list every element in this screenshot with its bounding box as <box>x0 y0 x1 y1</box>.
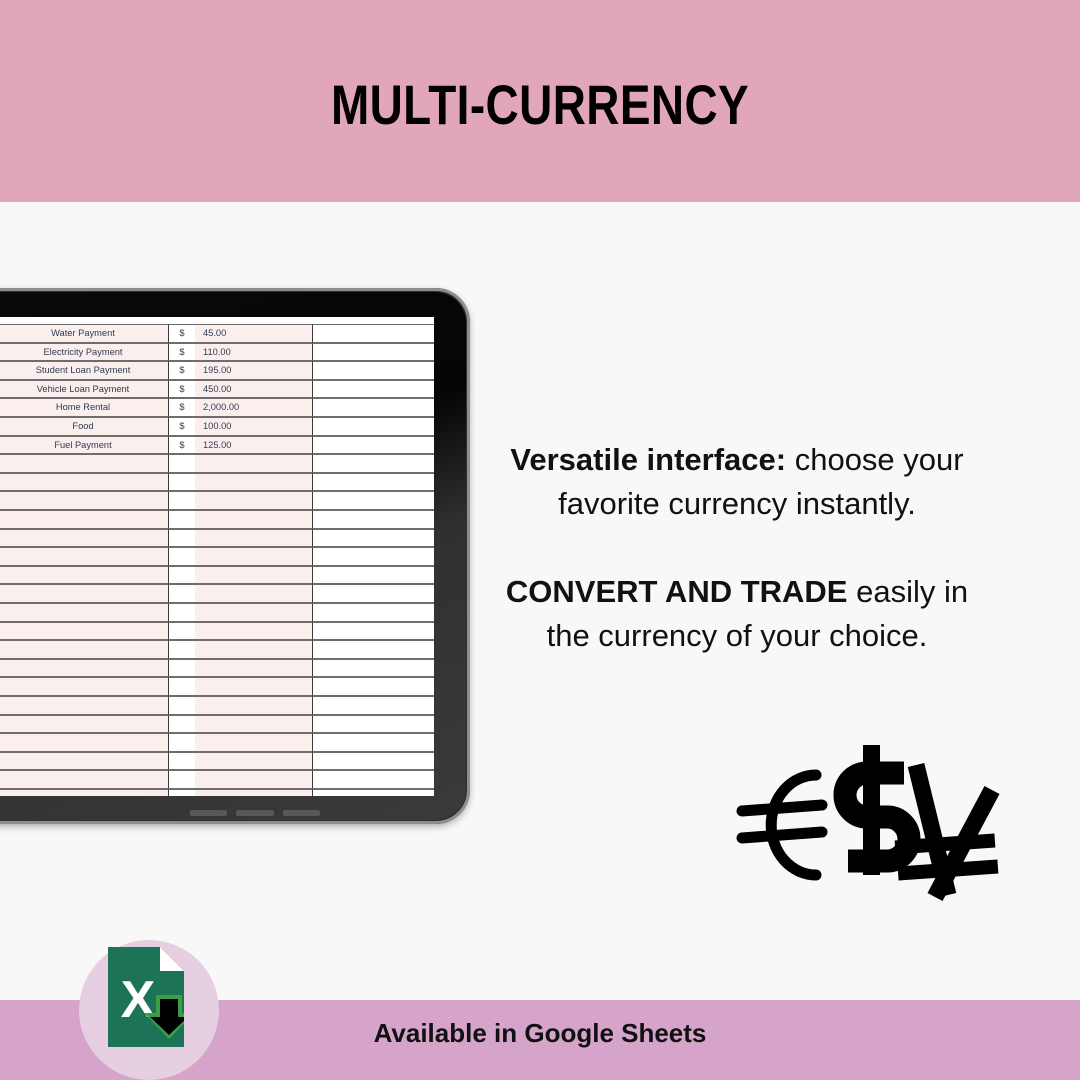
cell-expense-label[interactable] <box>0 454 169 473</box>
spreadsheet-app: $$$$$$ $b$U£€¥krCHF₦Lekƒ֏BrBZ$KMPлвR$៛¢k… <box>0 317 434 796</box>
cell-currency-symbol[interactable]: $ <box>169 361 195 380</box>
tablet-speaker-grille <box>190 810 320 816</box>
cell-amount[interactable] <box>195 659 313 678</box>
table-row[interactable]: Fuel Payment$125.00 <box>0 436 434 455</box>
table-row[interactable] <box>0 529 434 548</box>
tablet-device: $$$$$$ $b$U£€¥krCHF₦Lekƒ֏BrBZ$KMPлвR$៛¢k… <box>0 288 470 833</box>
cell-expense-label[interactable] <box>0 473 169 492</box>
cell-expense-label[interactable] <box>0 659 169 678</box>
excel-file-icon: X <box>108 947 184 1047</box>
cell-currency-symbol[interactable] <box>169 603 195 622</box>
cell-currency-symbol[interactable]: $ <box>169 398 195 417</box>
cell-amount[interactable]: 110.00 <box>195 343 313 362</box>
table-row[interactable] <box>0 510 434 529</box>
cell-tail <box>313 584 434 603</box>
cell-amount[interactable] <box>195 454 313 473</box>
cell-tail <box>313 454 434 473</box>
cell-tail <box>313 752 434 771</box>
cell-expense-label[interactable]: Electricity Payment <box>0 343 169 362</box>
cell-expense-label[interactable]: Student Loan Payment <box>0 361 169 380</box>
table-row[interactable] <box>0 584 434 603</box>
cell-tail <box>313 677 434 696</box>
table-row[interactable] <box>0 770 434 789</box>
cell-tail <box>313 696 434 715</box>
cell-tail <box>313 770 434 789</box>
cell-currency-symbol[interactable] <box>169 584 195 603</box>
speaker-bar <box>190 810 227 816</box>
cell-tail <box>313 361 434 380</box>
table-row[interactable] <box>0 603 434 622</box>
euro-symbol-icon <box>742 775 822 875</box>
cell-currency-symbol[interactable]: $ <box>169 343 195 362</box>
cell-amount[interactable] <box>195 603 313 622</box>
cell-tail <box>313 566 434 585</box>
cell-amount[interactable]: 195.00 <box>195 361 313 380</box>
cell-amount[interactable]: 100.00 <box>195 417 313 436</box>
cell-currency-symbol[interactable]: $ <box>169 436 195 455</box>
cell-amount[interactable] <box>195 622 313 641</box>
cell-tail <box>313 789 434 796</box>
tablet-screen: $$$$$$ $b$U£€¥krCHF₦Lekƒ֏BrBZ$KMPлвR$៛¢k… <box>0 317 434 796</box>
cell-currency-symbol[interactable] <box>169 733 195 752</box>
cell-tail <box>313 417 434 436</box>
cell-expense-label[interactable] <box>0 789 169 796</box>
cell-amount[interactable] <box>195 696 313 715</box>
table-row[interactable] <box>0 659 434 678</box>
cell-amount[interactable] <box>195 529 313 548</box>
table-row[interactable]: Vehicle Loan Payment$450.00 <box>0 380 434 399</box>
cell-tail <box>313 640 434 659</box>
cell-amount[interactable] <box>195 473 313 492</box>
main-stage: $$$$$$ $b$U£€¥krCHF₦Lekƒ֏BrBZ$KMPлвR$៛¢k… <box>0 202 1080 1000</box>
cell-expense-label[interactable] <box>0 733 169 752</box>
cell-currency-symbol[interactable] <box>169 622 195 641</box>
cell-amount[interactable]: 450.00 <box>195 380 313 399</box>
cell-expense-label[interactable] <box>0 510 169 529</box>
cell-currency-symbol[interactable] <box>169 789 195 796</box>
cell-tail <box>313 436 434 455</box>
page-title: MULTI-CURRENCY <box>97 72 983 137</box>
cell-amount[interactable] <box>195 491 313 510</box>
cell-tail <box>313 343 434 362</box>
cell-tail <box>313 622 434 641</box>
table-row[interactable]: Water Payment$45.00 <box>0 324 434 343</box>
cell-expense-label[interactable] <box>0 622 169 641</box>
cell-amount[interactable]: 45.00 <box>195 324 313 343</box>
cell-currency-symbol[interactable] <box>169 640 195 659</box>
cell-amount[interactable] <box>195 547 313 566</box>
cell-currency-symbol[interactable] <box>169 491 195 510</box>
cell-currency-symbol[interactable] <box>169 715 195 734</box>
cell-currency-symbol[interactable] <box>169 529 195 548</box>
cell-expense-label[interactable] <box>0 603 169 622</box>
cell-tail <box>313 733 434 752</box>
cell-amount[interactable] <box>195 770 313 789</box>
cell-amount[interactable] <box>195 789 313 796</box>
speaker-bar <box>283 810 320 816</box>
budget-table[interactable]: Water Payment$45.00Electricity Payment$1… <box>0 317 434 796</box>
cell-amount[interactable] <box>195 752 313 771</box>
cell-amount[interactable] <box>195 677 313 696</box>
cell-currency-symbol[interactable] <box>169 677 195 696</box>
cell-expense-label[interactable] <box>0 547 169 566</box>
cell-expense-label[interactable]: Home Rental <box>0 398 169 417</box>
cell-currency-symbol[interactable] <box>169 547 195 566</box>
copy-paragraph-2: CONVERT AND TRADE easily in the currency… <box>485 570 989 658</box>
cell-tail <box>313 324 434 343</box>
cell-tail <box>313 715 434 734</box>
table-row[interactable] <box>0 473 434 492</box>
cell-tail <box>313 398 434 417</box>
cell-currency-symbol[interactable]: $ <box>169 417 195 436</box>
table-row[interactable]: Home Rental$2,000.00 <box>0 398 434 417</box>
cell-amount[interactable] <box>195 584 313 603</box>
table-row[interactable] <box>0 696 434 715</box>
cell-currency-symbol[interactable] <box>169 510 195 529</box>
cell-expense-label[interactable] <box>0 770 169 789</box>
table-row[interactable] <box>0 733 434 752</box>
cell-expense-label[interactable] <box>0 752 169 771</box>
cell-amount[interactable]: 125.00 <box>195 436 313 455</box>
currency-symbols-art <box>730 745 1020 905</box>
cell-amount[interactable] <box>195 715 313 734</box>
cell-currency-symbol[interactable] <box>169 696 195 715</box>
cell-expense-label[interactable] <box>0 696 169 715</box>
cell-amount[interactable] <box>195 640 313 659</box>
table-row[interactable]: Student Loan Payment$195.00 <box>0 361 434 380</box>
cell-expense-label[interactable]: Fuel Payment <box>0 436 169 455</box>
cell-expense-label[interactable] <box>0 640 169 659</box>
copy-paragraph-1-bold: Versatile interface: <box>510 442 786 477</box>
cell-amount[interactable] <box>195 510 313 529</box>
cell-tail <box>313 473 434 492</box>
cell-currency-symbol[interactable] <box>169 454 195 473</box>
header-band: MULTI-CURRENCY <box>0 0 1080 202</box>
table-row[interactable] <box>0 789 434 796</box>
speaker-bar <box>236 810 273 816</box>
table-row[interactable] <box>0 454 434 473</box>
cell-expense-label[interactable] <box>0 566 169 585</box>
cell-currency-symbol[interactable]: $ <box>169 324 195 343</box>
cell-tail <box>313 380 434 399</box>
copy-paragraph-2-bold: CONVERT AND TRADE <box>506 574 848 609</box>
table-row[interactable]: Food$100.00 <box>0 417 434 436</box>
cell-tail <box>313 547 434 566</box>
table-row[interactable] <box>0 715 434 734</box>
dollar-symbol-icon <box>845 745 909 875</box>
cell-expense-label[interactable] <box>0 677 169 696</box>
cell-expense-label[interactable] <box>0 491 169 510</box>
cell-tail <box>313 529 434 548</box>
cell-expense-label[interactable]: Food <box>0 417 169 436</box>
cell-currency-symbol[interactable]: $ <box>169 380 195 399</box>
cell-expense-label[interactable] <box>0 529 169 548</box>
table-row[interactable] <box>0 547 434 566</box>
cell-currency-symbol[interactable] <box>169 473 195 492</box>
table-row[interactable] <box>0 640 434 659</box>
cell-expense-label[interactable] <box>0 584 169 603</box>
cell-amount[interactable]: 2,000.00 <box>195 398 313 417</box>
cell-expense-label[interactable]: Water Payment <box>0 324 169 343</box>
cell-currency-symbol[interactable] <box>169 752 195 771</box>
cell-amount[interactable] <box>195 566 313 585</box>
cell-currency-symbol[interactable] <box>169 659 195 678</box>
cell-tail <box>313 659 434 678</box>
table-row[interactable] <box>0 752 434 771</box>
excel-download-badge[interactable]: X <box>79 940 219 1080</box>
cell-amount[interactable] <box>195 733 313 752</box>
cell-expense-label[interactable] <box>0 715 169 734</box>
table-row[interactable] <box>0 622 434 641</box>
table-row[interactable] <box>0 677 434 696</box>
cell-expense-label[interactable]: Vehicle Loan Payment <box>0 380 169 399</box>
table-row[interactable] <box>0 566 434 585</box>
cell-tail <box>313 510 434 529</box>
cell-currency-symbol[interactable] <box>169 770 195 789</box>
cell-tail <box>313 603 434 622</box>
cell-currency-symbol[interactable] <box>169 566 195 585</box>
table-row[interactable]: Electricity Payment$110.00 <box>0 343 434 362</box>
marketing-copy: Versatile interface: choose your favorit… <box>485 438 989 658</box>
excel-letter: X <box>121 971 156 1029</box>
copy-paragraph-1: Versatile interface: choose your favorit… <box>485 438 989 526</box>
table-row[interactable] <box>0 491 434 510</box>
cell-tail <box>313 491 434 510</box>
